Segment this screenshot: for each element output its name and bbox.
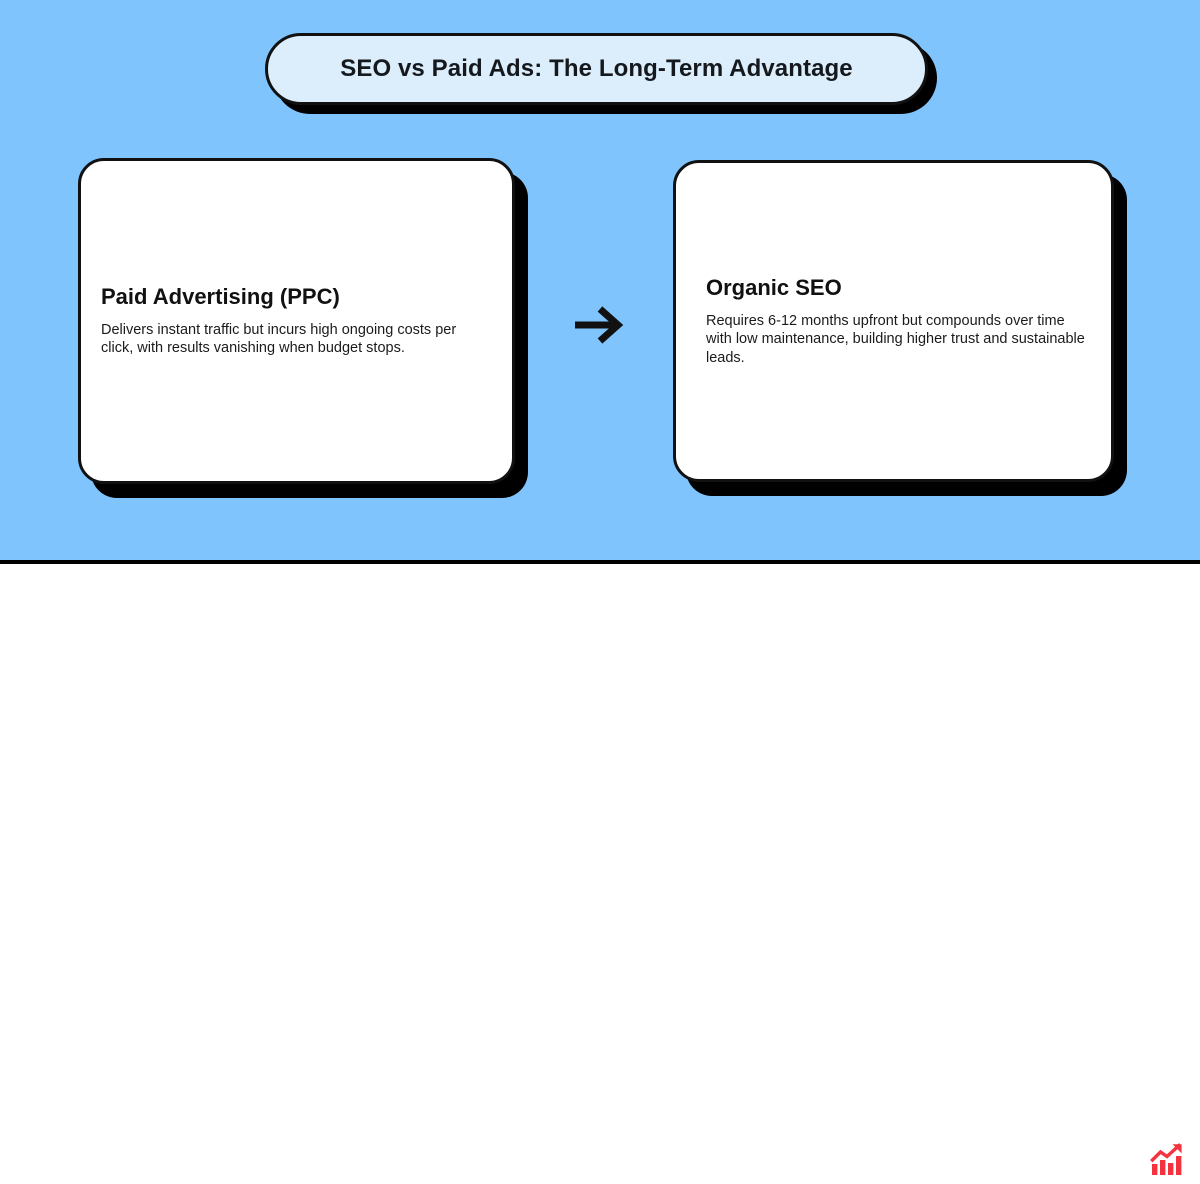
footer-bar [0,564,1200,630]
card-content: Paid Advertising (PPC) Delivers instant … [81,284,512,358]
title-banner: SEO vs Paid Ads: The Long-Term Advantage [265,33,928,105]
comparison-card-paid-advertising: Paid Advertising (PPC) Delivers instant … [78,158,515,484]
card-body: Delivers instant traffic but incurs high… [101,322,486,358]
arrow-right-icon [572,303,626,347]
page-title: SEO vs Paid Ads: The Long-Term Advantage [322,55,871,84]
infographic-canvas: SEO vs Paid Ads: The Long-Term Advantage… [0,0,1200,630]
card-body: Requires 6-12 months upfront but compoun… [706,312,1089,366]
stage-background: SEO vs Paid Ads: The Long-Term Advantage… [0,0,1200,561]
card-heading: Organic SEO [706,275,1089,300]
card-content: Organic SEO Requires 6-12 months upfront… [676,275,1111,367]
comparison-card-organic-seo: Organic SEO Requires 6-12 months upfront… [673,160,1114,482]
growth-bar-chart-icon [1148,1141,1186,1179]
card-heading: Paid Advertising (PPC) [101,284,486,309]
